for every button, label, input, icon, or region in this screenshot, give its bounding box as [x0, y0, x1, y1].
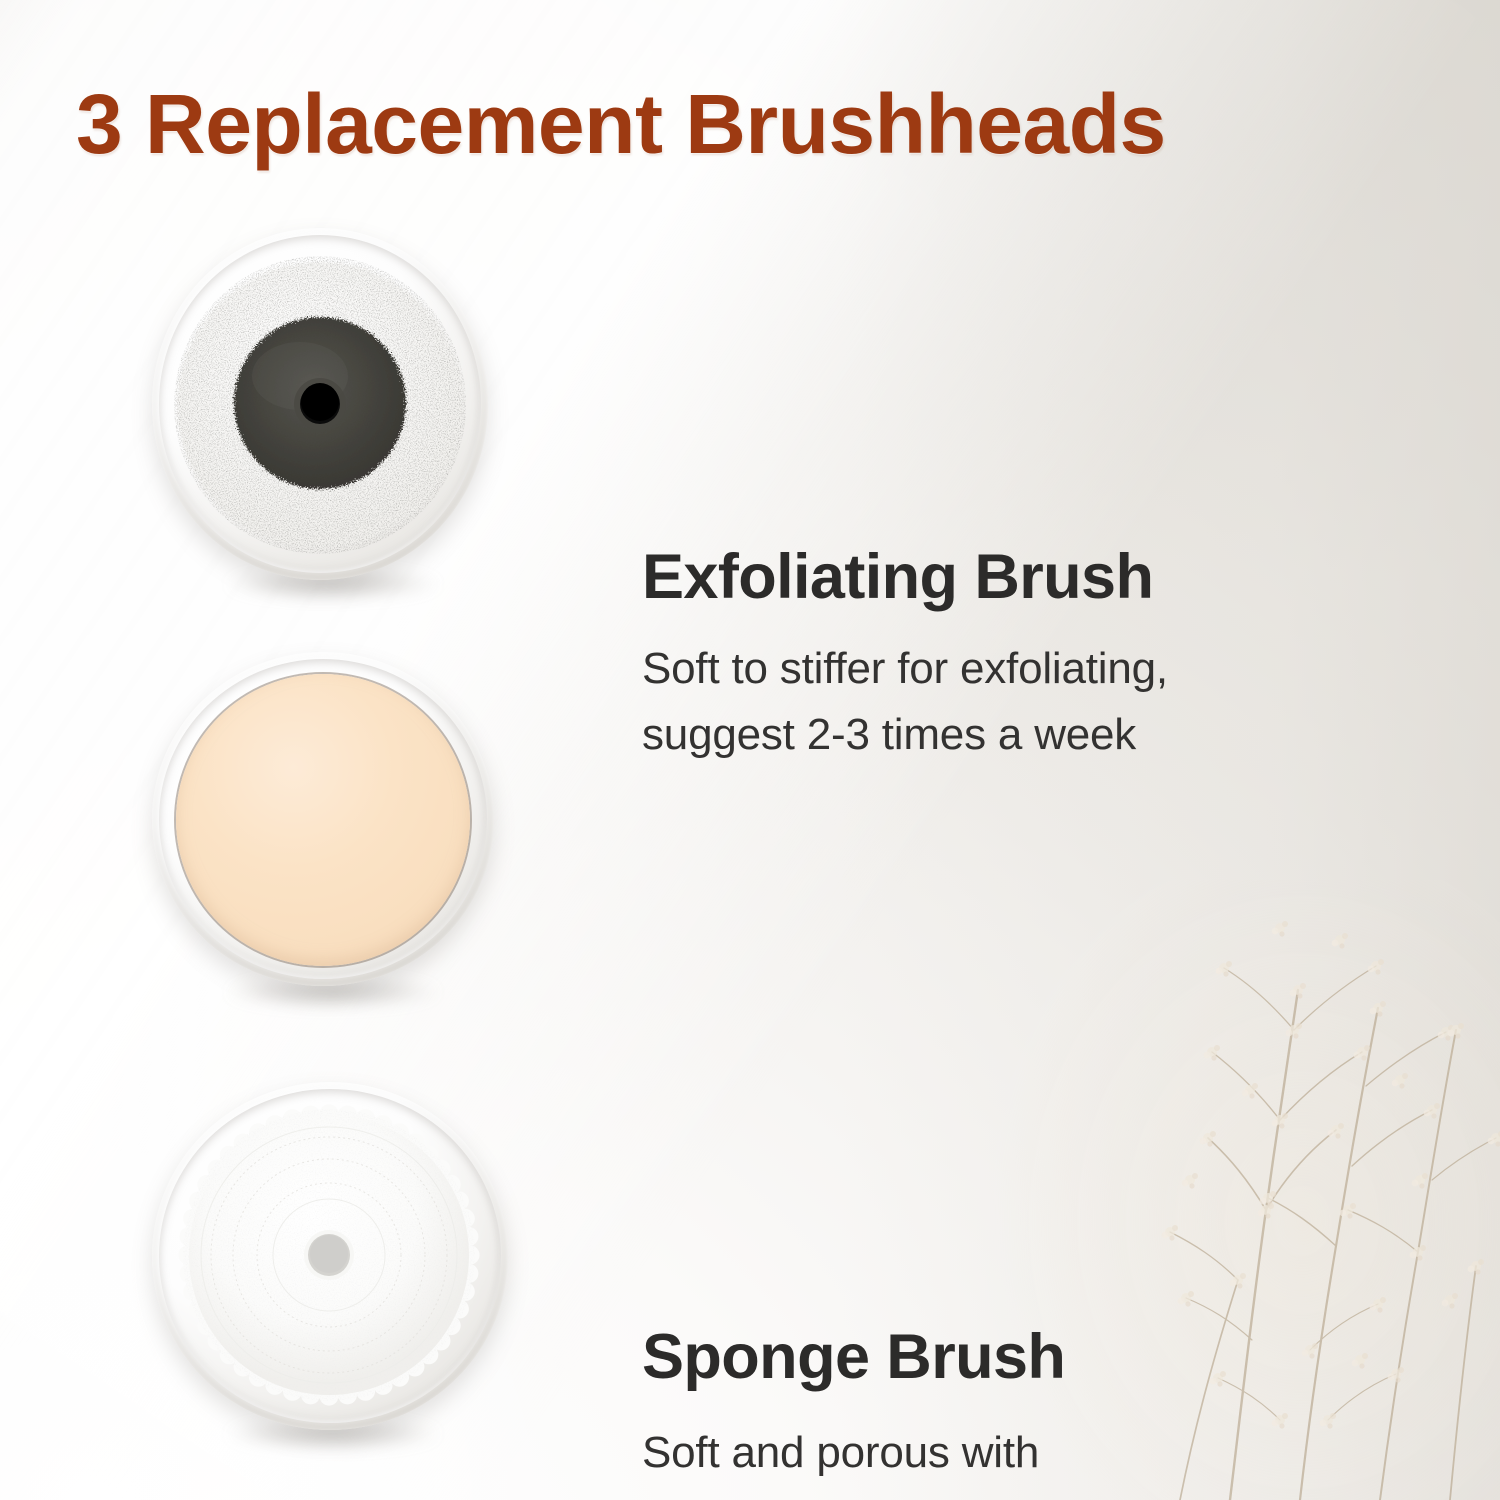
- feature-row-exfoliating: Exfoliating Brush Soft to stiffer for ex…: [0, 228, 1500, 608]
- brushhead-housing-ring: [152, 652, 494, 986]
- feature-row-soft-cleaning: Soft Cleaning Brush Gently on facial ski…: [0, 1082, 1500, 1442]
- brushhead-housing-ring: [152, 1082, 508, 1430]
- exfoliating-bristles: [174, 256, 466, 554]
- feature-line: excellent water absorption,: [642, 1486, 1160, 1500]
- feature-heading: Exfoliating Brush: [642, 540, 1168, 614]
- brushhead-housing-ring: [152, 228, 488, 580]
- page-title: 3 Replacement Brushheads: [76, 76, 1436, 172]
- soft-cleaning-pad: [172, 1096, 486, 1414]
- sponge-pad: [176, 674, 470, 966]
- product-infographic: 3 Replacement Brushheads: [0, 0, 1500, 1500]
- feature-row-sponge: Sponge Brush Soft and porous with excell…: [0, 652, 1500, 1004]
